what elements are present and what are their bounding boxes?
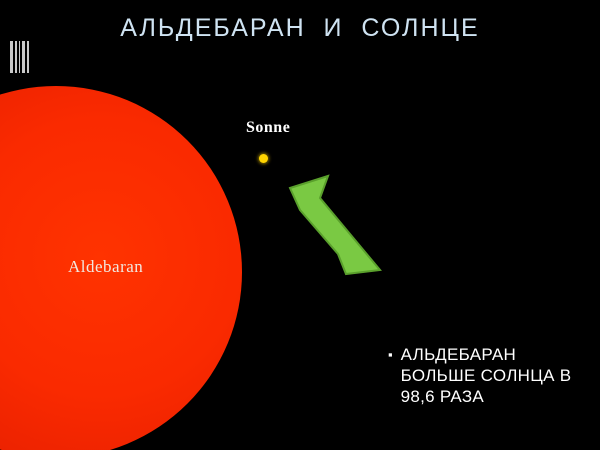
sonne-label: Sonne [246,119,290,137]
barcode-bar [22,41,25,73]
green-arrow-icon [280,168,390,278]
aldebaran-label: Aldebaran [68,257,143,277]
barcode-decoration-icon [10,41,32,73]
barcode-bar [15,41,17,73]
barcode-bar [19,41,20,73]
page-title: АЛЬДЕБАРАН И СОЛНЦЕ [0,14,600,43]
bullet-list: ▪ АЛЬДЕБАРАН БОЛЬШЕ СОЛНЦА В 98,6 РАЗА [388,344,594,407]
bullet-marker-icon: ▪ [388,344,393,366]
barcode-bar [27,41,29,73]
bullet-item-text: АЛЬДЕБАРАН БОЛЬШЕ СОЛНЦА В 98,6 РАЗА [401,344,594,407]
sun-dot-shape [259,154,268,163]
barcode-bar [10,41,13,73]
presentation-slide: АЛЬДЕБАРАН И СОЛНЦЕ Aldebaran Sonne ▪ АЛ… [0,0,600,450]
